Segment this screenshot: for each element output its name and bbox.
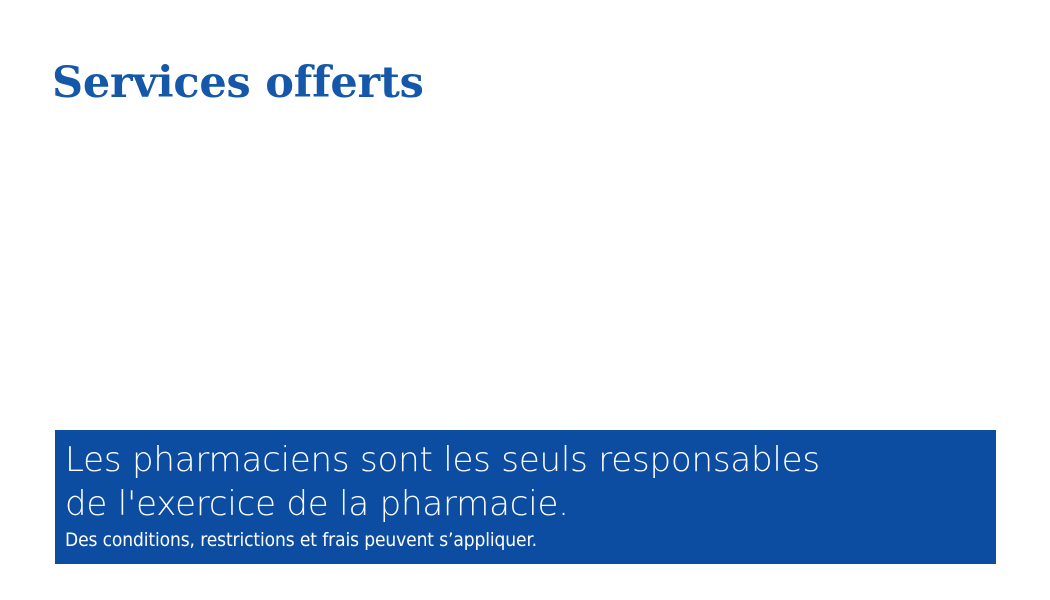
callout-headline-line-2: de l'exercice de la pharmacie. [65,482,996,526]
callout-headline-line-1: Les pharmaciens sont les seuls responsab… [65,438,996,482]
slide-canvas: Services offerts Les pharmaciens sont le… [0,0,1050,600]
slide-content-area [55,130,996,420]
page-title: Services offerts [52,62,424,105]
callout-headline: Les pharmaciens sont les seuls responsab… [65,438,996,526]
callout-banner: Les pharmaciens sont les seuls responsab… [55,430,996,564]
callout-subline: Des conditions, restrictions et frais pe… [65,528,996,552]
